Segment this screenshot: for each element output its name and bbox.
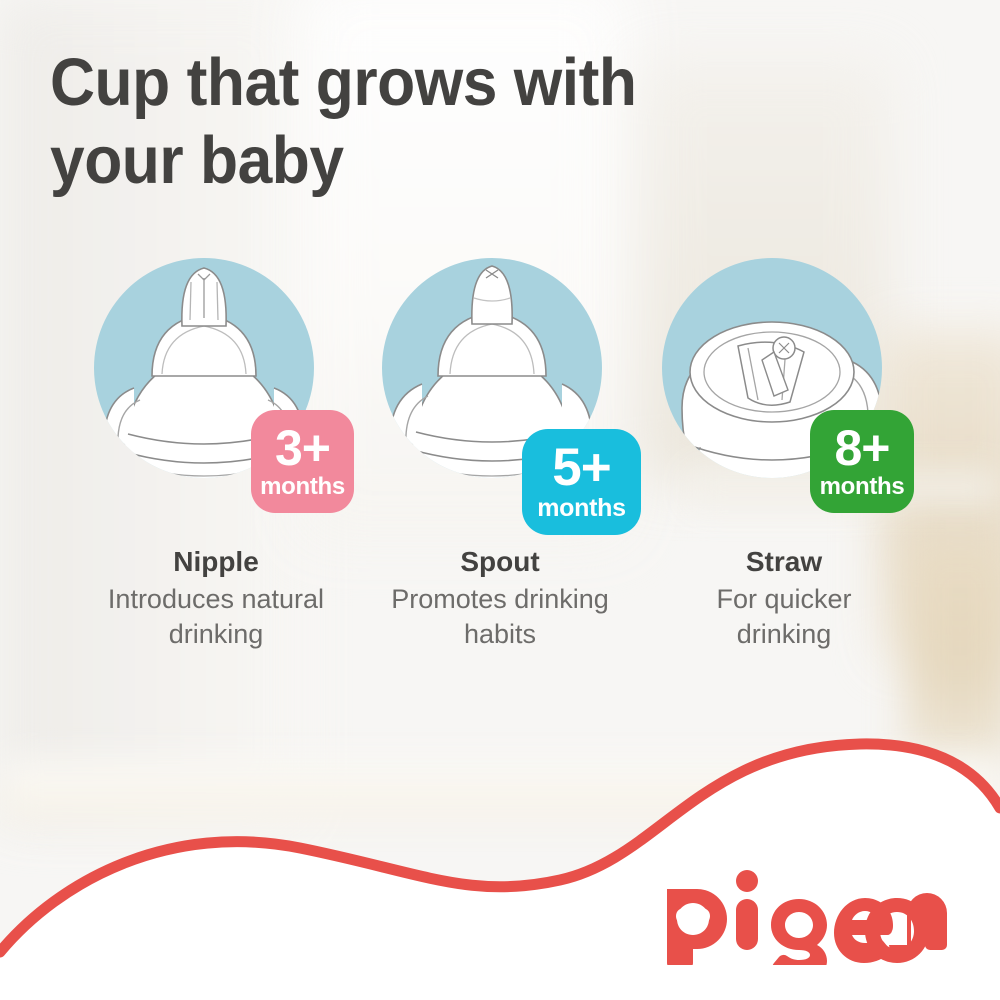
feature-description: Promotes drinking habits (350, 582, 650, 652)
badge-age-number: 5+ (552, 443, 610, 493)
badge-age-number: 3+ (275, 425, 330, 472)
feature-spout: 5+ months Spout Promotes drinking habits (358, 248, 642, 652)
feature-straw-art: 8+ months (662, 248, 906, 510)
badge-age-number: 8+ (834, 425, 889, 472)
feature-straw: 8+ months Straw For quicker drinking (642, 248, 926, 652)
feature-nipple-art: 3+ months (94, 248, 338, 510)
feature-nipple-caption: Nipple Introduces natural drinking (66, 544, 366, 652)
feature-spout-art: 5+ months (378, 248, 622, 510)
feature-straw-caption: Straw For quicker drinking (634, 544, 934, 652)
feature-description: Introduces natural drinking (66, 582, 366, 652)
feature-title: Spout (350, 544, 650, 579)
badge-age-unit: months (537, 496, 625, 521)
feature-title: Straw (634, 544, 934, 579)
page-title: Cup that grows with your baby (50, 44, 645, 199)
feature-list: 3+ months Nipple Introduces natural drin… (0, 248, 1000, 652)
badge-age-3-months: 3+ months (251, 410, 354, 513)
pigeon-logo (663, 869, 953, 965)
infographic-canvas: Cup that grows with your baby (0, 0, 1000, 1000)
feature-title: Nipple (66, 544, 366, 579)
badge-age-8-months: 8+ months (810, 410, 914, 513)
badge-age-unit: months (820, 475, 905, 499)
feature-description: For quicker drinking (634, 582, 934, 652)
badge-age-5-months: 5+ months (522, 429, 641, 535)
badge-age-unit: months (260, 475, 345, 499)
feature-nipple: 3+ months Nipple Introduces natural drin… (74, 248, 358, 652)
feature-spout-caption: Spout Promotes drinking habits (350, 544, 650, 652)
